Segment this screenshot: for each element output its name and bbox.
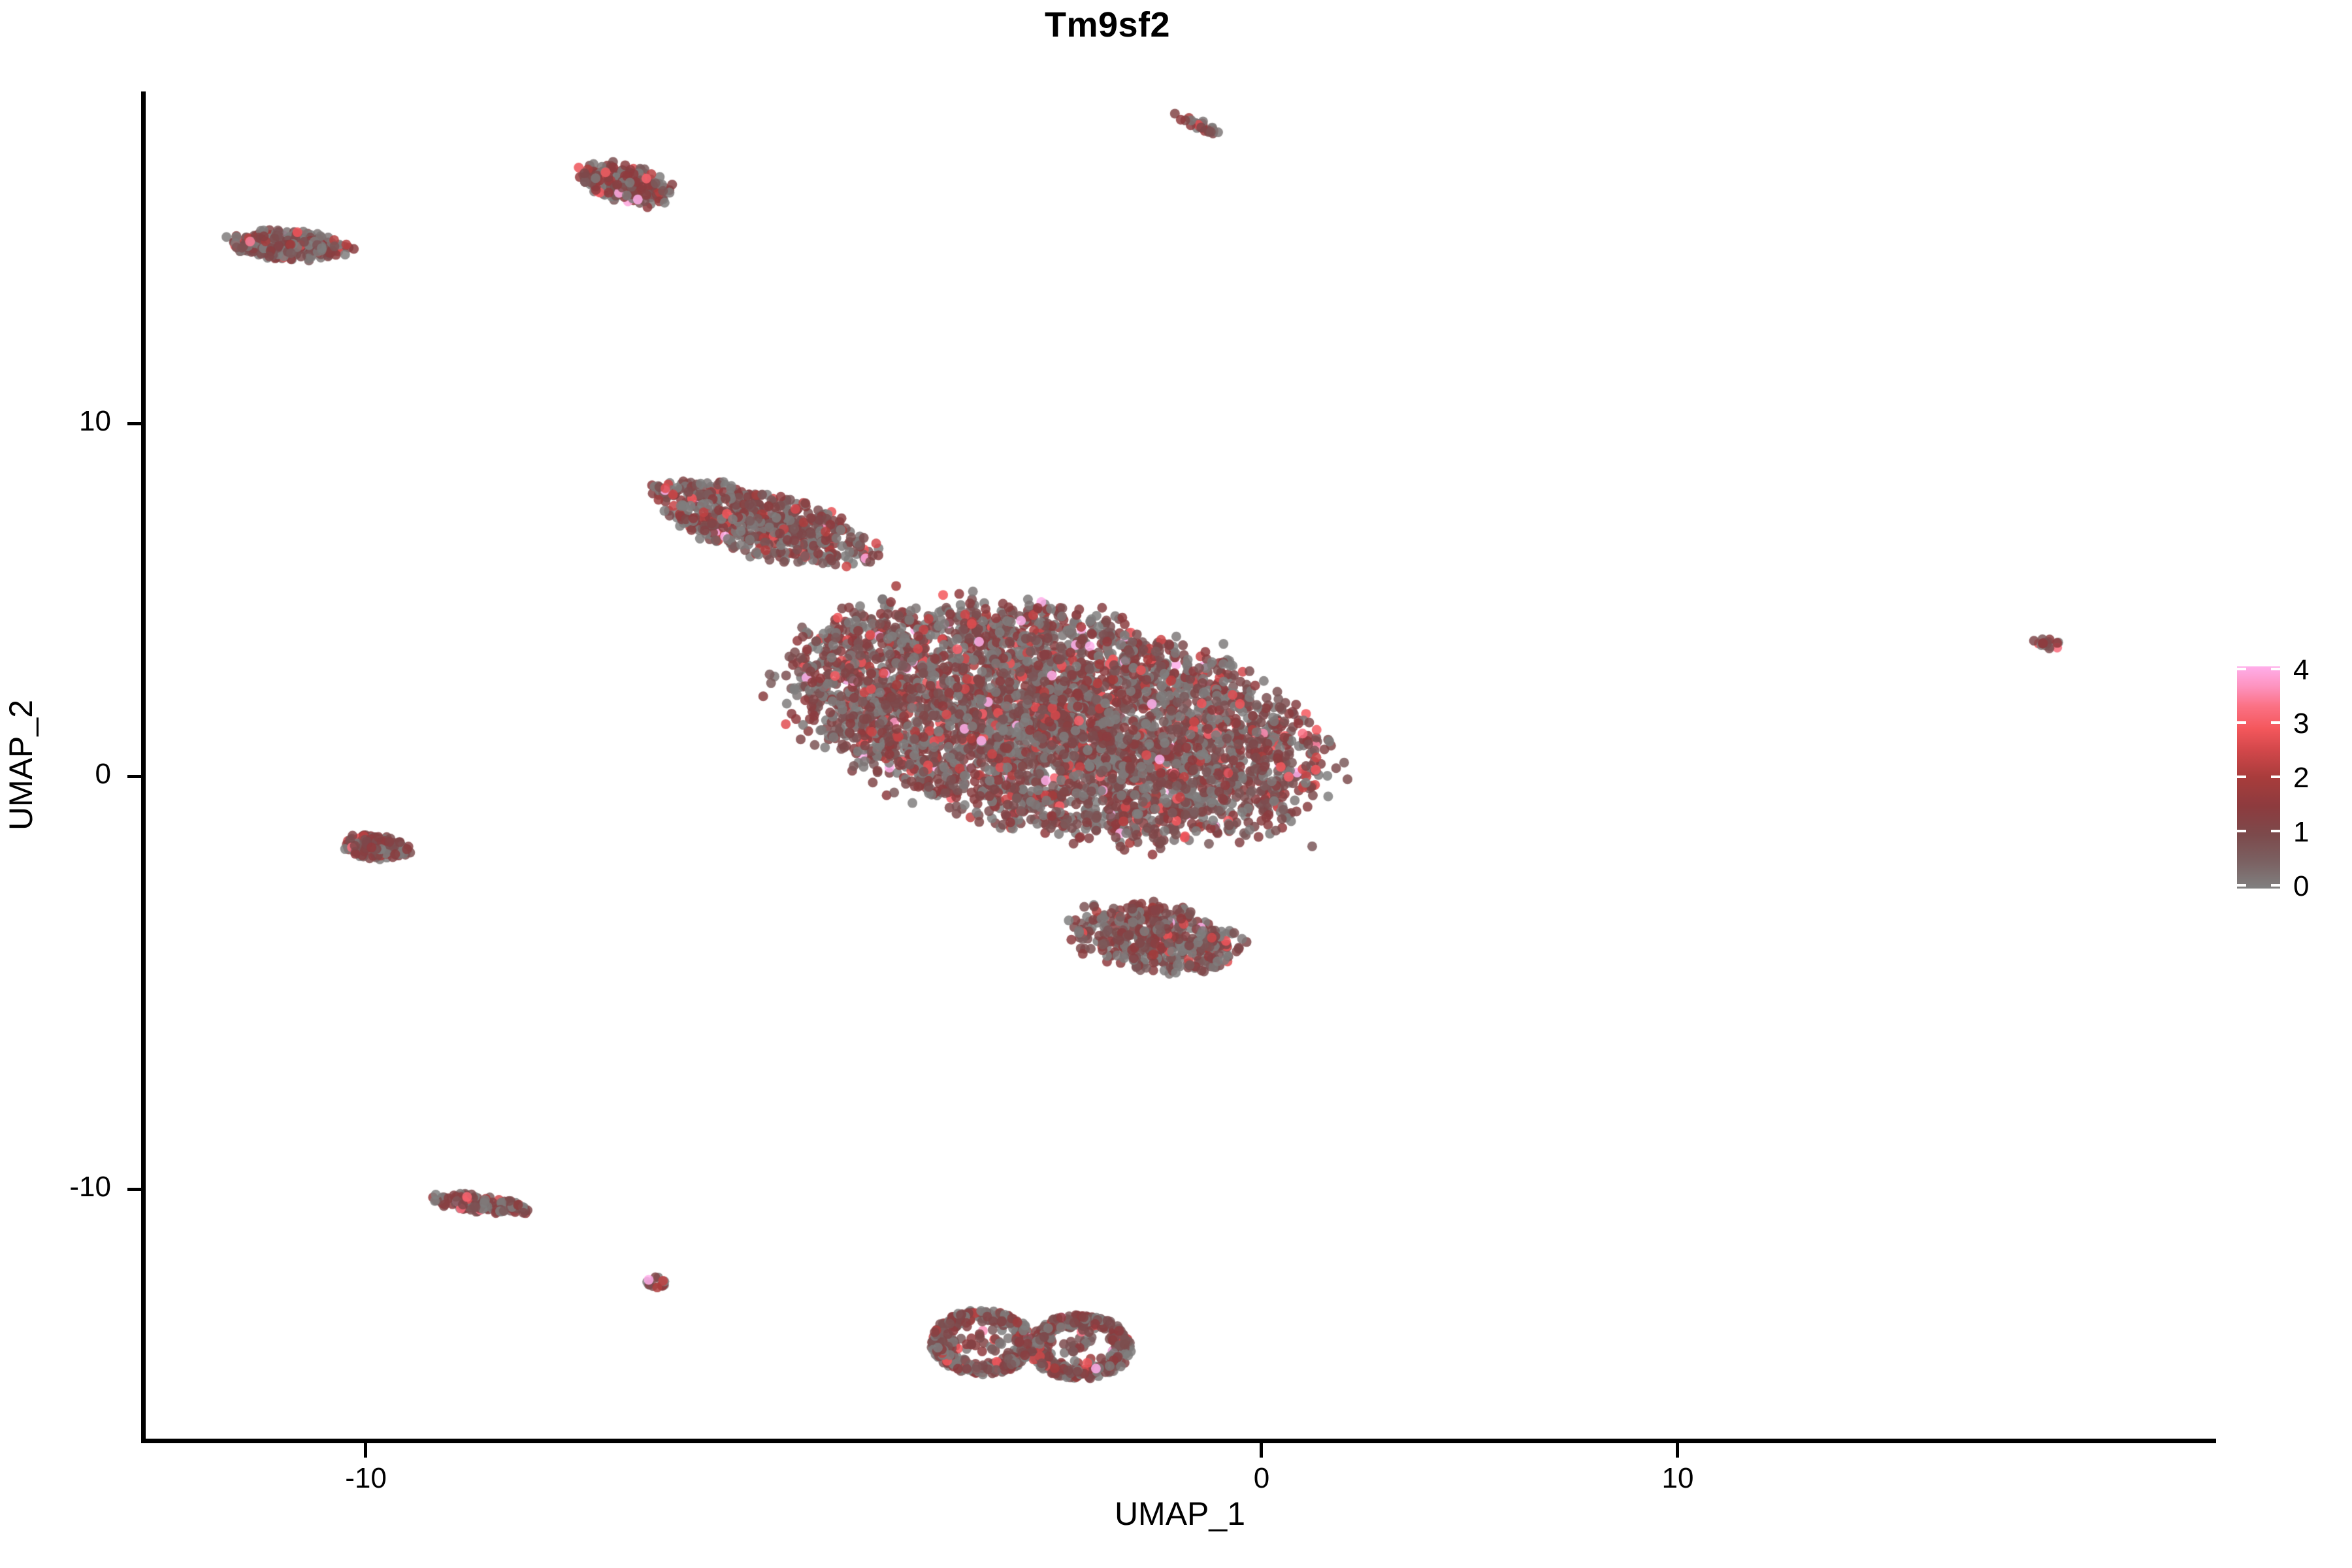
colorbar-label-3: 3 — [2293, 710, 2309, 738]
x-tick-mark-0 — [1260, 1443, 1263, 1458]
colorbar-tick-3-left — [2237, 721, 2246, 724]
colorbar-tick-0-left — [2237, 884, 2246, 887]
page-title: Tm9sf2 — [0, 4, 2215, 46]
colorbar-label-4: 4 — [2293, 656, 2309, 685]
x-tick-label-minus10: -10 — [268, 1462, 464, 1495]
colorbar-tick-1-left — [2237, 830, 2246, 832]
x-tick-mark-minus10 — [364, 1443, 367, 1458]
colorbar-tick-4-left — [2237, 668, 2246, 670]
y-tick-mark-minus10 — [127, 1188, 142, 1191]
colorbar-tick-3-right — [2271, 721, 2280, 724]
y-tick-mark-10 — [127, 422, 142, 425]
plot-panel — [145, 91, 2215, 1440]
colorbar-legend[interactable]: 4 3 2 1 0 — [2237, 666, 2352, 889]
x-tick-label-10: 10 — [1580, 1462, 1776, 1495]
colorbar-tick-2-left — [2237, 776, 2246, 778]
y-axis-title: UMAP_2 — [2, 91, 40, 1439]
x-axis-line — [141, 1439, 2216, 1443]
scatter-plot-canvas — [145, 91, 2215, 1440]
colorbar-tick-2-right — [2271, 776, 2280, 778]
figure-root: Tm9sf2 10 0 -10 -10 0 10 UMAP_1 UMAP_2 4… — [0, 0, 2352, 1568]
x-axis-title: UMAP_1 — [145, 1495, 2215, 1533]
colorbar-label-1: 1 — [2293, 818, 2309, 847]
y-tick-mark-0 — [127, 775, 142, 778]
colorbar-label-2: 2 — [2293, 764, 2309, 792]
colorbar-tick-0-right — [2271, 884, 2280, 887]
colorbar-tick-4-right — [2271, 668, 2280, 670]
colorbar-label-0: 0 — [2293, 872, 2309, 901]
x-tick-mark-10 — [1676, 1443, 1679, 1458]
colorbar-tick-1-right — [2271, 830, 2280, 832]
x-tick-label-0: 0 — [1164, 1462, 1360, 1495]
y-axis-line — [141, 91, 146, 1443]
